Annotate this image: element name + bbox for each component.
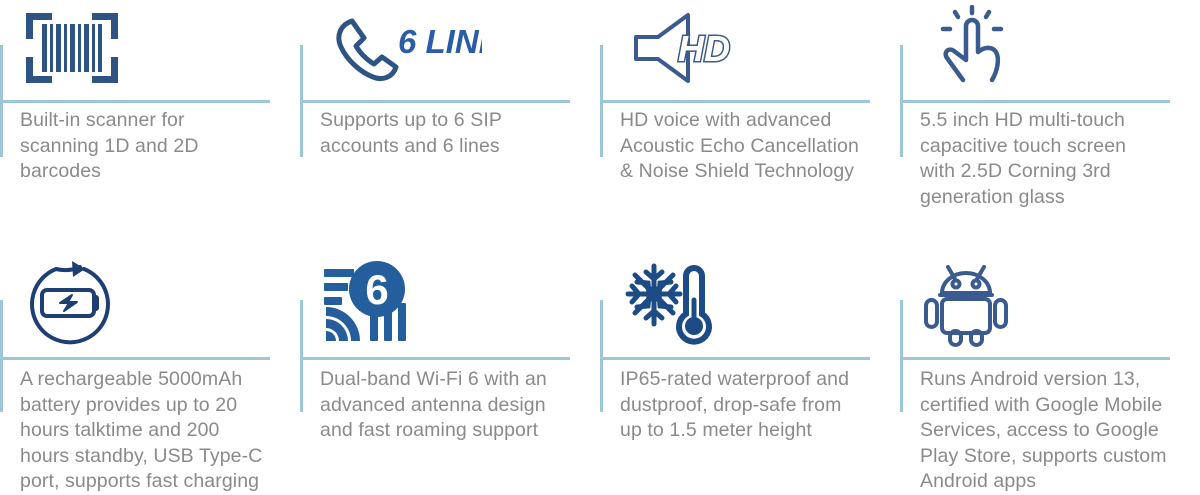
- feature-text: A rechargeable 5000mAh battery provides …: [20, 367, 282, 495]
- feature-cell-barcode-scanner: Built-in scanner for scanning 1D and 2D …: [0, 0, 300, 245]
- divider-vertical: [900, 300, 903, 412]
- feature-text: HD voice with advanced Acoustic Echo Can…: [620, 108, 882, 185]
- feature-cell-wifi6: 6 Dual-band Wi-Fi 6 with an advanced ant…: [300, 245, 600, 495]
- divider-vertical: [600, 300, 603, 412]
- feature-cell-battery: A rechargeable 5000mAh battery provides …: [0, 245, 300, 495]
- feature-cell-six-lines: 6 LINES Supports up to 6 SIP accounts an…: [300, 0, 600, 245]
- divider-horizontal: [600, 357, 870, 360]
- feature-text: Dual-band Wi-Fi 6 with an advanced anten…: [320, 367, 582, 444]
- divider-vertical: [0, 300, 3, 412]
- wifi-six-label: 6: [365, 266, 388, 313]
- feature-text: IP65-rated waterproof and dustproof, dro…: [620, 367, 882, 444]
- divider-horizontal: [0, 357, 270, 360]
- snowflake-thermometer-icon: [622, 253, 802, 353]
- divider-horizontal: [300, 357, 570, 360]
- divider-horizontal: [600, 100, 870, 103]
- touch-hand-icon: [922, 0, 1102, 96]
- feature-cell-hd-voice: HD HD voice with advanced Acoustic Echo …: [600, 0, 900, 245]
- feature-cell-android: Runs Android version 13, certified with …: [900, 245, 1200, 495]
- divider-vertical: [300, 300, 303, 412]
- android-robot-icon: [922, 253, 1102, 353]
- six-lines-label: 6 LINES: [398, 23, 482, 60]
- feature-text: Built-in scanner for scanning 1D and 2D …: [20, 108, 282, 185]
- divider-horizontal: [300, 100, 570, 103]
- divider-horizontal: [900, 357, 1170, 360]
- feature-text: Runs Android version 13, certified with …: [920, 367, 1182, 495]
- wifi-6-icon: 6: [322, 253, 502, 353]
- feature-cell-touch-screen: 5.5 inch HD multi-touch capacitive touch…: [900, 0, 1200, 245]
- divider-horizontal: [900, 100, 1170, 103]
- divider-horizontal: [0, 100, 270, 103]
- rechargeable-battery-icon: [22, 253, 202, 353]
- barcode-scanner-icon: [22, 0, 202, 96]
- hd-speaker-icon: HD: [622, 0, 802, 96]
- feature-text: 5.5 inch HD multi-touch capacitive touch…: [920, 108, 1182, 210]
- feature-grid: Built-in scanner for scanning 1D and 2D …: [0, 0, 1200, 495]
- feature-text: Supports up to 6 SIP accounts and 6 line…: [320, 108, 582, 159]
- hd-label: HD: [678, 28, 730, 69]
- phone-six-lines-icon: 6 LINES: [322, 0, 502, 96]
- feature-cell-ip65: IP65-rated waterproof and dustproof, dro…: [600, 245, 900, 495]
